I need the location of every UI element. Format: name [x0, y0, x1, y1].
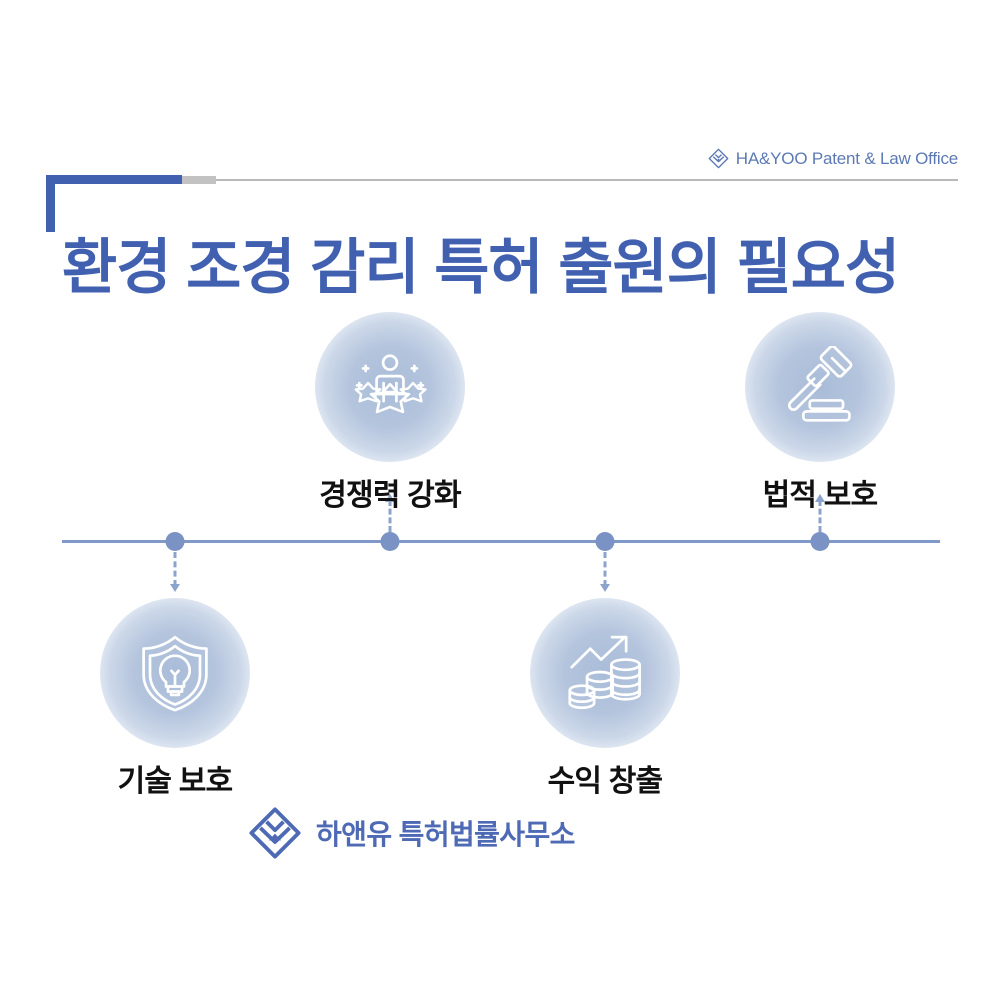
footer-company-name: 하앤유 특허법률사무소	[316, 813, 575, 853]
item-label: 기술 보호	[45, 756, 305, 800]
arrowhead-node-1	[170, 584, 180, 592]
item-label: 법적 보호	[690, 470, 950, 514]
gavel-icon	[745, 312, 895, 462]
item-legal-protection[interactable]: 법적 보호	[690, 312, 950, 514]
item-label: 경쟁력 강화	[260, 470, 520, 514]
timeline-node-4[interactable]	[811, 532, 830, 551]
item-technology-protection[interactable]: 기술 보호	[45, 598, 305, 800]
header-rule-thin	[215, 179, 958, 181]
page-title: 환경 조경 감리 특허 출원의 필요성	[62, 232, 899, 304]
footer-logo: 하앤유 특허법률사무소	[248, 806, 575, 860]
diamond-logo-icon	[708, 148, 729, 169]
item-revenue-generation[interactable]: 수익 창출	[475, 598, 735, 800]
item-competitiveness[interactable]: 경쟁력 강화	[260, 312, 520, 514]
connector-node-3	[604, 552, 607, 586]
brand-name: HA&YOO Patent & Law Office	[736, 149, 958, 169]
header-rule-blue-bar	[46, 175, 182, 184]
diamond-logo-icon	[248, 806, 302, 860]
timeline-axis	[62, 540, 940, 543]
connector-node-1	[174, 552, 177, 586]
person-stars-icon	[315, 312, 465, 462]
brand-header: HA&YOO Patent & Law Office	[708, 148, 958, 169]
title-bracket-vertical	[46, 175, 55, 232]
slide-canvas: HA&YOO Patent & Law Office 환경 조경 감리 특허 출…	[0, 0, 1000, 1000]
coins-growth-arrow-icon	[530, 598, 680, 748]
timeline-node-2[interactable]	[381, 532, 400, 551]
arrowhead-node-3	[600, 584, 610, 592]
header-rule-grey-stub	[180, 176, 216, 184]
timeline-node-3[interactable]	[596, 532, 615, 551]
item-label: 수익 창출	[475, 756, 735, 800]
shield-lightbulb-icon	[100, 598, 250, 748]
timeline-node-1[interactable]	[166, 532, 185, 551]
